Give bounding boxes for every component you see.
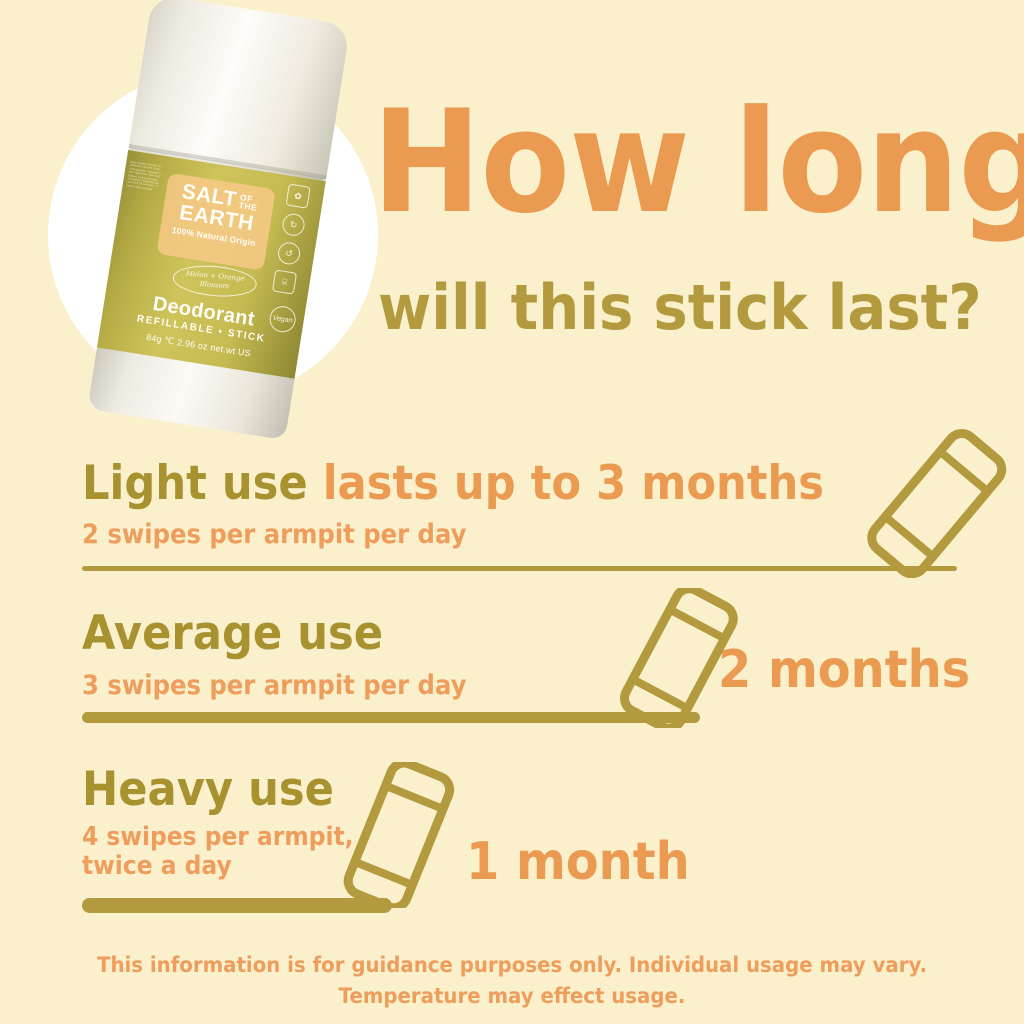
row-light-bar	[82, 566, 957, 571]
row-average-title: Average use	[82, 606, 383, 661]
product-image: Aqua, Sodium Chloride, Propanediol, Glyc…	[68, 0, 382, 455]
deodorant-stick-icon-heavy	[318, 762, 478, 908]
recyclable-icon: ↻	[281, 212, 306, 237]
brand-logo: SALTOFTHE EARTH 100% Natural Origin	[156, 173, 275, 271]
row-average-subtitle: 3 swipes per armpit per day	[82, 670, 466, 701]
product-cap	[128, 0, 350, 181]
cruelty-free-icon: ✿	[286, 184, 311, 209]
deodorant-stick-icon-average	[590, 588, 766, 728]
deodorant-stick-icon-light	[848, 428, 1024, 578]
headline-primary: How long	[372, 92, 1024, 234]
row-heavy-subtitle-line2: twice a day	[82, 851, 232, 881]
scent-badge: Melon + Orange Blossom	[172, 263, 258, 300]
row-light-title-primary: Light use	[82, 456, 323, 511]
disclaimer-line1: This information is for guidance purpose…	[31, 950, 994, 981]
battery-free-icon: ⌸	[272, 269, 297, 294]
row-light-title-accent: lasts up to 3 months	[323, 456, 824, 511]
ingredients-text: Aqua, Sodium Chloride, Propanediol, Glyc…	[126, 160, 162, 192]
disclaimer-footer: This information is for guidance purpose…	[0, 950, 1024, 1012]
product-label: Aqua, Sodium Chloride, Propanediol, Glyc…	[97, 150, 326, 379]
row-light-subtitle: 2 swipes per armpit per day	[82, 519, 466, 550]
certification-icon-column: ✿ ↻ ↺ ⌸	[271, 184, 319, 303]
disclaimer-line2: Temperature may effect usage.	[31, 981, 994, 1012]
row-heavy-duration: 1 month	[466, 832, 690, 892]
row-heavy-subtitle-line1: 4 swipes per armpit,	[82, 822, 354, 852]
refill-icon: ↺	[276, 241, 301, 266]
row-light-title: Light use lasts up to 3 months	[82, 456, 824, 511]
headline-secondary: will this stick last?	[378, 277, 982, 339]
infographic-canvas: Aqua, Sodium Chloride, Propanediol, Glyc…	[0, 0, 1024, 1024]
row-heavy-title: Heavy use	[82, 762, 334, 817]
